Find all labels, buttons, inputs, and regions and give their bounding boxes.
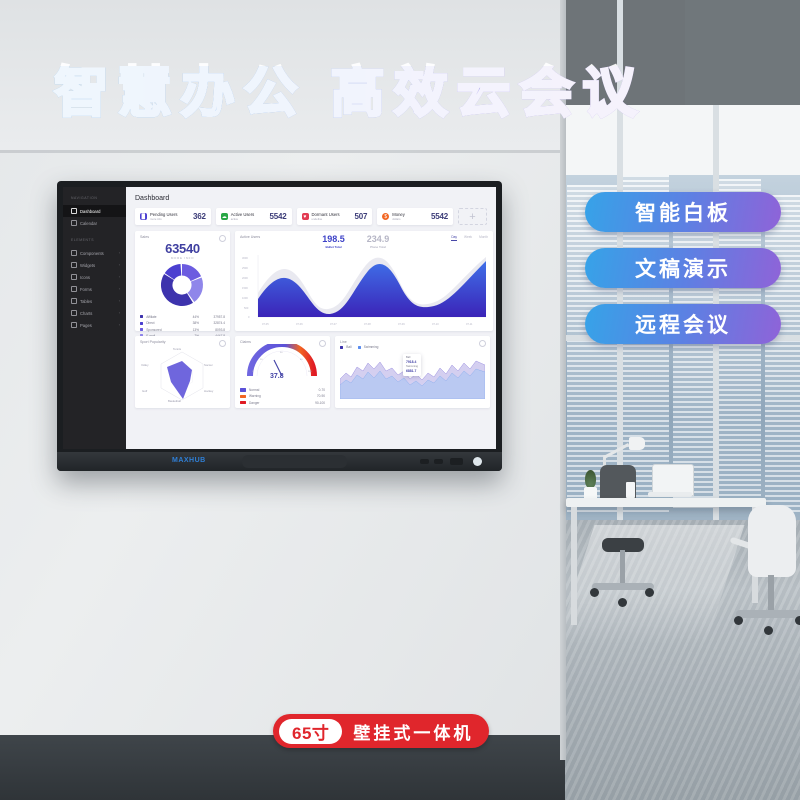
legend-row: Normal 0-70 — [240, 388, 325, 392]
legend-percent: 38% — [183, 321, 199, 325]
stat-card-pending-users[interactable]: ▉ Pending Users more info 362 — [135, 208, 211, 225]
chair-caster — [590, 588, 599, 597]
sidebar-item-label: Dashboard — [80, 209, 101, 214]
dashboard-sidebar: NAVIGATION Dashboard Calendar ELEMENTS C… — [63, 187, 126, 449]
plane-total-value: 234.9 — [367, 235, 390, 245]
active-users-range-tabs: Day Week Month — [451, 235, 488, 241]
svg-text:Volley: Volley — [141, 363, 149, 367]
svg-text:07-05: 07-05 — [262, 322, 269, 326]
form-icon — [71, 286, 77, 292]
legend-row: Danger 90-100 — [240, 401, 325, 405]
chair-caster — [795, 616, 800, 625]
usb-port[interactable] — [420, 459, 429, 464]
chart-tooltip: Ball 7918.4 Swimming 6881.7 — [403, 354, 421, 376]
legend-swatch — [140, 328, 143, 331]
chevron-right-icon: › — [119, 287, 120, 291]
svg-text:07-10: 07-10 — [432, 322, 439, 326]
laptop-base — [648, 492, 692, 497]
chair-caster — [618, 598, 627, 607]
chevron-right-icon: › — [119, 311, 120, 315]
interactive-display-device: NAVIGATION Dashboard Calendar ELEMENTS C… — [57, 181, 502, 471]
stat-card-value: 362 — [193, 212, 206, 221]
svg-text:07-07: 07-07 — [330, 322, 337, 326]
svg-text:0: 0 — [248, 315, 250, 319]
feature-pill-list: 智能白板 文稿演示 远程会议 — [585, 192, 781, 360]
speaker-grille — [242, 455, 347, 468]
sidebar-item-label: Calendar — [80, 221, 97, 226]
svg-text:0: 0 — [252, 371, 254, 373]
desk-leg — [571, 507, 577, 625]
stat-card-sub: undefine — [312, 217, 340, 221]
sales-legend: Affiliate 44% 37957.8 Direct 38% 32874.4 — [140, 315, 225, 338]
home-icon — [71, 208, 77, 214]
desk-top — [566, 498, 766, 507]
sidebar-item-charts[interactable]: Charts › — [63, 307, 126, 319]
poster-root: 智慧办公 高效云会议 智能白板 文稿演示 远程会议 NAVIGATION Das… — [0, 0, 800, 800]
power-button[interactable] — [473, 457, 482, 466]
usb-port-2[interactable] — [434, 459, 443, 464]
chart-icon — [71, 310, 77, 316]
sidebar-item-label: Components — [80, 251, 104, 256]
chevron-right-icon: › — [119, 275, 120, 279]
book-icon: ▉ — [140, 213, 147, 220]
series-bullet-total — [258, 261, 486, 317]
chevron-right-icon: › — [119, 263, 120, 267]
svg-text:Soccer: Soccer — [204, 363, 213, 367]
sidebar-item-label: Widgets — [80, 263, 95, 268]
legend-label: Danger — [249, 401, 299, 405]
svg-text:50: 50 — [280, 352, 283, 354]
sidebar-item-widgets[interactable]: Widgets › — [63, 259, 126, 271]
svg-text:07-06: 07-06 — [296, 322, 303, 326]
badge-size-label: 65寸 — [279, 719, 342, 744]
svg-text:2000: 2000 — [242, 276, 248, 280]
panel-line: Line Ball Swimming — [335, 336, 490, 408]
sales-subtitle: MORE INFO — [140, 256, 225, 260]
active-users-area-chart: 30002500 20001500 1000500 0 07-0507-06 0… — [240, 249, 488, 327]
chair-caster — [734, 616, 743, 625]
cloud-icon: ☁ — [221, 213, 228, 220]
sidebar-item-forms[interactable]: Forms › — [63, 283, 126, 295]
svg-text:Tennis: Tennis — [173, 347, 182, 351]
legend-swatch — [240, 401, 246, 404]
tooltip-swim-value: 6881.7 — [406, 369, 418, 374]
svg-text:1500: 1500 — [242, 286, 248, 290]
stat-card-sub: dollars — [392, 217, 405, 221]
panel-title: Active Users — [240, 235, 260, 239]
legend-label: Warning — [249, 394, 299, 398]
tooltip-ball-label: Ball — [406, 356, 410, 359]
svg-text:07-09: 07-09 — [398, 322, 405, 326]
page-title: Dashboard — [135, 195, 487, 202]
sidebar-item-components[interactable]: Components › — [63, 247, 126, 259]
legend-range: 90-100 — [299, 401, 325, 405]
legend-value: 32874.4 — [199, 321, 225, 325]
stat-card-active-users[interactable]: ☁ Active Users active 5542 — [216, 208, 292, 225]
sidebar-item-label: Charts — [80, 311, 92, 316]
sidebar-item-icons[interactable]: Icons › — [63, 271, 126, 283]
sidebar-item-label: Icons — [80, 275, 90, 280]
sales-value: 63540 — [140, 241, 225, 256]
grid-icon — [71, 250, 77, 256]
dashboard-main: Dashboard ▉ Pending Users more info 362 — [126, 187, 496, 449]
badge-type-label: 壁挂式一体机 — [353, 719, 473, 744]
sidebar-item-calendar[interactable]: Calendar — [63, 217, 126, 229]
tooltip-swim-label: Swimming — [406, 365, 418, 368]
office-chair-light-base — [736, 610, 800, 618]
stat-card-value: 5542 — [431, 212, 448, 221]
legend-swatch — [240, 395, 246, 398]
device-bottom-bezel: MAXHUB — [57, 452, 502, 471]
svg-text:07-08: 07-08 — [364, 322, 371, 326]
table-icon — [71, 298, 77, 304]
page-icon — [71, 322, 77, 328]
legend-row: Sponsored 13% 8093.8 — [140, 328, 225, 332]
heart-icon: ♥ — [302, 213, 309, 220]
hdmi-port[interactable] — [450, 458, 463, 465]
sidebar-item-dashboard[interactable]: Dashboard — [63, 205, 126, 217]
product-badge: 65寸 壁挂式一体机 — [273, 714, 489, 748]
stat-card-sub: active — [231, 217, 255, 221]
feature-pill-presentation[interactable]: 文稿演示 — [585, 248, 781, 288]
stat-card-money[interactable]: $ Money dollars 5542 — [377, 208, 453, 225]
sales-donut-chart — [140, 263, 225, 307]
window-mullion — [713, 105, 719, 180]
dollar-icon: $ — [382, 213, 389, 220]
office-chair-dark-base — [592, 583, 654, 590]
chevron-right-icon: › — [119, 251, 120, 255]
sidebar-item-tables[interactable]: Tables › — [63, 295, 126, 307]
svg-text:07-11: 07-11 — [466, 322, 473, 326]
feature-pill-remote-meeting[interactable]: 远程会议 — [585, 304, 781, 344]
legend-percent: 44% — [183, 315, 199, 319]
bullet-total-value: 198.5 — [322, 235, 345, 245]
stat-card-dormant-users[interactable]: ♥ Dormant Users undefine 507 — [297, 208, 373, 225]
brand-logo: MAXHUB — [172, 457, 206, 464]
legend-range: 0-70 — [299, 388, 325, 392]
feature-pill-whiteboard[interactable]: 智能白板 — [585, 192, 781, 232]
add-card-button[interactable]: + — [458, 208, 487, 225]
panel-sales: Sales 63540 MORE INFO — [135, 231, 230, 331]
legend-value: 37957.8 — [199, 315, 225, 319]
legend-swatch — [140, 322, 143, 325]
stat-card-row: ▉ Pending Users more info 362 ☁ A — [135, 208, 487, 225]
svg-text:37.8: 37.8 — [270, 373, 284, 380]
svg-text:80: 80 — [300, 359, 303, 361]
panel-row-main: Sales 63540 MORE INFO — [135, 231, 487, 331]
legend-label: Normal — [249, 388, 299, 392]
legend-label: Sponsored — [146, 328, 183, 332]
legend-row: Affiliate 44% 37957.8 — [140, 315, 225, 319]
chair-caster — [764, 626, 773, 635]
legend-value: 8093.8 — [199, 328, 225, 332]
claims-legend: Normal 0-70 Warning 70-90 Danger — [240, 388, 325, 405]
sport-radar-chart: Tennis Soccer Hockey Basketball Golf Vol… — [140, 344, 225, 404]
wall-seam — [0, 150, 565, 153]
sidebar-item-label: Forms — [80, 287, 92, 292]
tab-month[interactable]: Month — [479, 235, 488, 241]
active-users-totals: 198.5 Bullet Total 234.9 Plane Total — [322, 235, 389, 249]
claims-gauge-chart: 020 5080 100 37.8 — [240, 344, 325, 380]
office-chair-light-back — [748, 505, 796, 577]
legend-percent: 13% — [183, 328, 199, 332]
widget-icon — [71, 262, 77, 268]
svg-text:Hockey: Hockey — [204, 389, 214, 393]
stat-card-value: 507 — [355, 212, 368, 221]
stat-card-value: 5542 — [270, 212, 287, 221]
legend-row: Direct 38% 32874.4 — [140, 321, 225, 325]
poster-headline: 智慧办公 高效云会议 — [0, 66, 700, 120]
tab-week[interactable]: Week — [464, 235, 472, 241]
sidebar-section-elements: ELEMENTS — [63, 229, 126, 247]
panel-active-users: Active Users 198.5 Bullet Total 234.9 Pl… — [235, 231, 493, 331]
sidebar-item-label: Tables — [80, 299, 92, 304]
sidebar-section-navigation: NAVIGATION — [63, 187, 126, 205]
legend-swatch — [240, 388, 246, 391]
chevron-right-icon: › — [119, 323, 120, 327]
panel-claims: Claims 020 508 — [235, 336, 330, 408]
legend-range: 70-90 — [299, 394, 325, 398]
svg-text:2500: 2500 — [242, 266, 248, 270]
sidebar-item-pages[interactable]: Pages › — [63, 319, 126, 331]
office-chair-light-post — [768, 575, 774, 615]
svg-text:3000: 3000 — [242, 256, 248, 260]
sidebar-item-label: Pages — [80, 323, 92, 328]
plant-leaves — [585, 470, 596, 488]
chair-caster — [645, 588, 654, 597]
legend-row: Warning 70-90 — [240, 394, 325, 398]
stat-card-sub: more info — [150, 217, 177, 221]
panel-title: Line — [340, 340, 485, 344]
legend-label: Affiliate — [146, 315, 183, 319]
desk-lamp-head — [629, 437, 645, 450]
svg-text:1000: 1000 — [242, 296, 248, 300]
panel-sport-popularity: Sport Popularity Tennis Soccer Hockey — [135, 336, 230, 408]
device-screen: NAVIGATION Dashboard Calendar ELEMENTS C… — [63, 187, 496, 449]
legend-swatch — [140, 315, 143, 318]
svg-text:Golf: Golf — [142, 389, 147, 393]
panel-title: Sales — [140, 235, 225, 239]
tab-day[interactable]: Day — [451, 235, 457, 241]
svg-text:Basketball: Basketball — [168, 399, 181, 403]
calendar-icon — [71, 220, 77, 226]
legend-label: Direct — [146, 321, 183, 325]
star-icon — [71, 274, 77, 280]
svg-text:500: 500 — [244, 306, 249, 310]
pencil-cup — [626, 482, 635, 498]
chevron-right-icon: › — [119, 299, 120, 303]
panel-row-secondary: Sport Popularity Tennis Soccer Hockey — [135, 336, 487, 408]
